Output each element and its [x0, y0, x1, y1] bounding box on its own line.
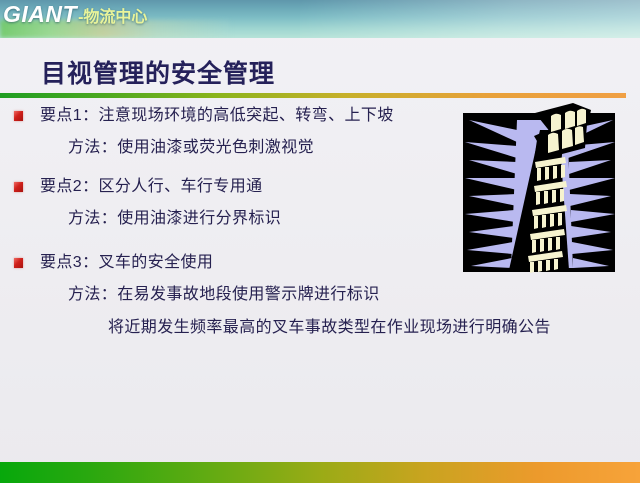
square-bullet-icon: [14, 111, 23, 121]
header-bar: GIANT -物流中心: [0, 0, 640, 38]
footer-bar: [0, 462, 640, 483]
logo-subtitle-text: -物流中心: [78, 3, 147, 27]
slide: GIANT -物流中心 目视管理的安全管理 要点1：注意现场环境的高低突起、转弯…: [0, 0, 640, 483]
bullet-point-2-title: 要点2：区分人行、车行专用通: [40, 176, 263, 198]
bullet-point-1-title: 要点1：注意现场环境的高低突起、转弯、上下坡: [40, 105, 394, 127]
company-logo: GIANT -物流中心: [3, 1, 147, 28]
header-sheen: [300, 0, 640, 38]
page-title: 目视管理的安全管理: [41, 54, 275, 90]
bullet-point-3-method-2: 将近期发生频率最高的叉车事故类型在作业现场进行明确公告: [108, 317, 640, 339]
title-divider: [0, 93, 626, 98]
logo-brand-text: GIANT: [3, 1, 77, 28]
leaning-tower-of-pisa-image: [455, 100, 623, 280]
square-bullet-icon: [14, 258, 23, 268]
square-bullet-icon: [14, 182, 23, 192]
bullet-point-3-title: 要点3：叉车的安全使用: [40, 252, 213, 274]
bullet-point-3-method-1: 方法：在易发事故地段使用警示牌进行标识: [68, 284, 640, 306]
